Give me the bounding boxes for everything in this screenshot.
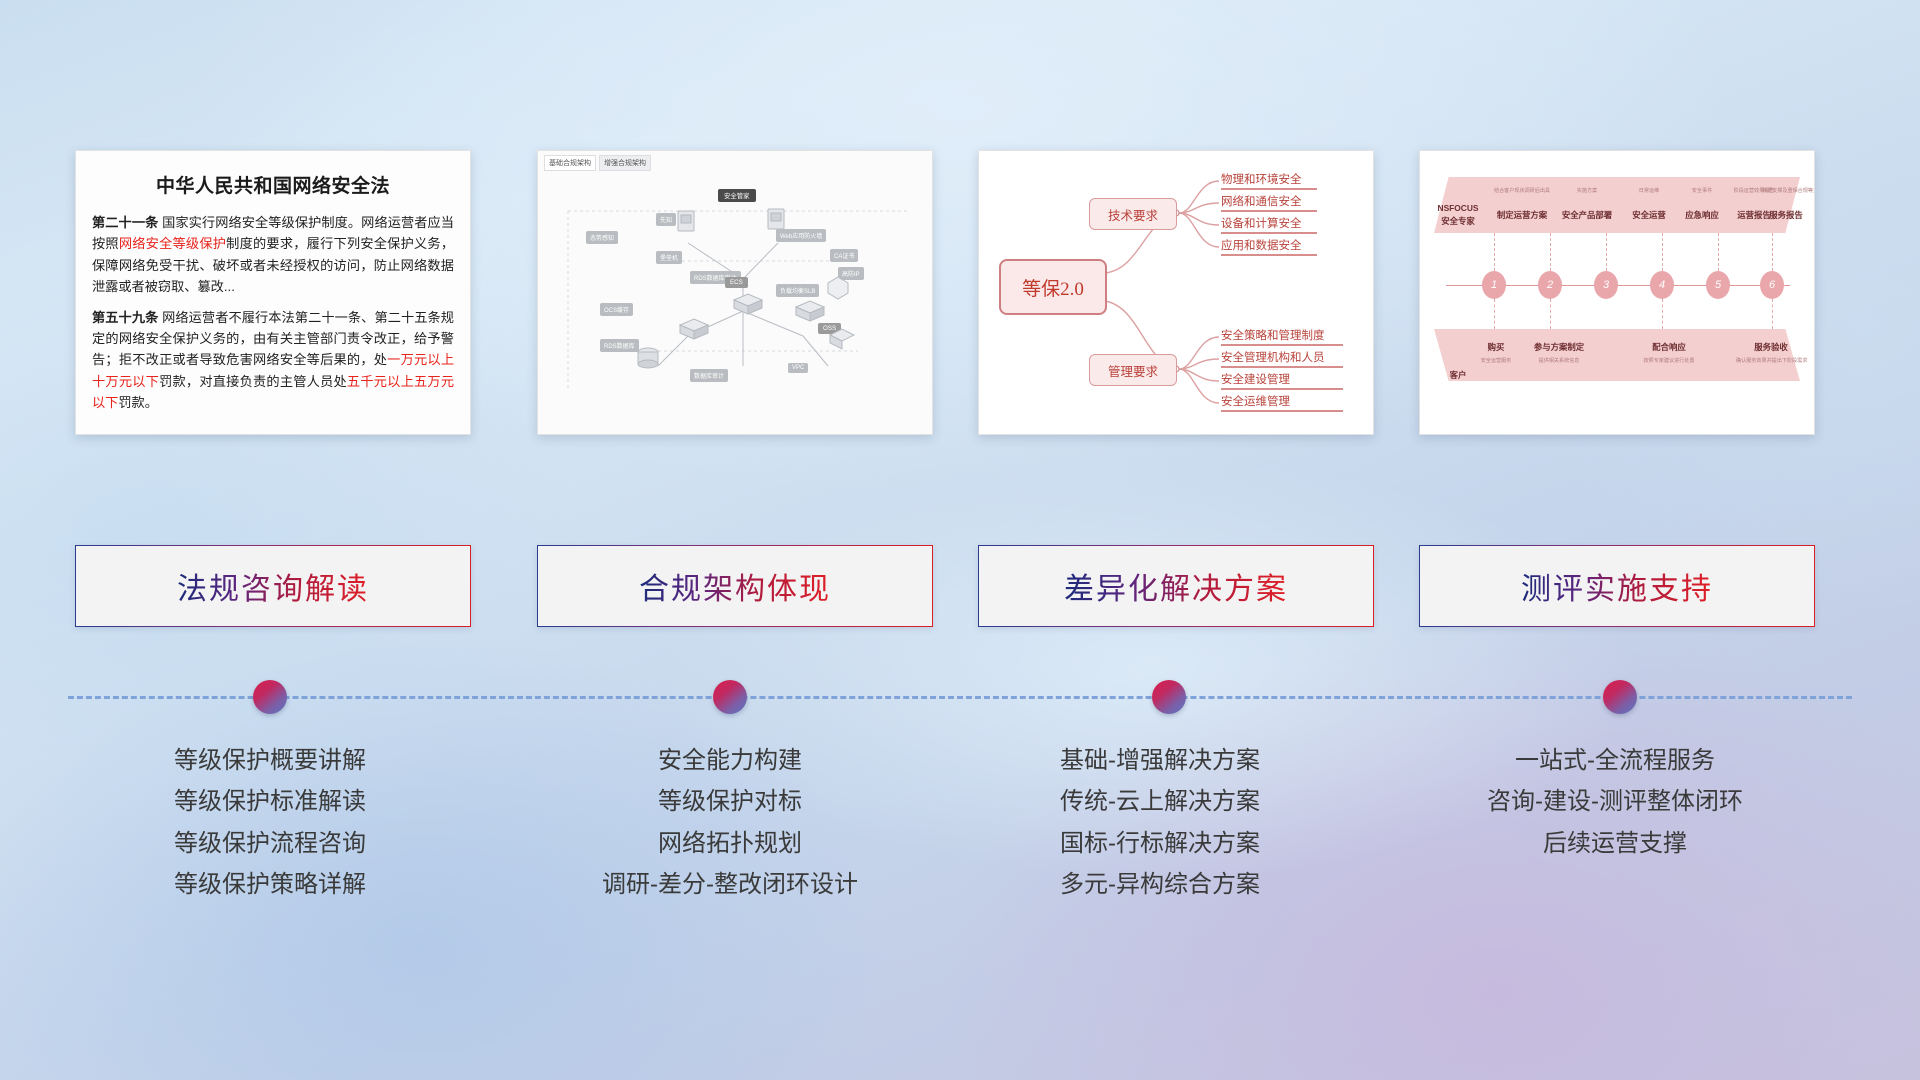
topology-node-db-audit: 数据库审计: [690, 369, 728, 382]
mindmap-leaf-device: 设备和计算安全: [1221, 215, 1302, 231]
list-item: 等级保护标准解读: [55, 781, 485, 822]
mindmap-leaf-underline: [1221, 366, 1343, 368]
list-item: 等级保护概要讲解: [55, 740, 485, 781]
topology-node-waf: Web应用防火墙: [776, 229, 826, 242]
nsfocus-connector: [1606, 233, 1608, 271]
list-item: 多元-异构综合方案: [945, 864, 1375, 905]
mindmap-leaf-operation: 安全运维管理: [1221, 393, 1290, 409]
card-mindmap-dengbao[interactable]: 等保2.0 技术要求 管理要求 物理和环境安全 网络和通信安全 设备和计算安全 …: [978, 150, 1374, 435]
list-item: 调研-差分-整改闭环设计: [515, 864, 945, 905]
list-item: 咨询-建设-测评整体闭环: [1400, 781, 1830, 822]
nsfocus-top-sub-4: 安全事件: [1678, 187, 1726, 194]
nsfocus-connector: [1494, 233, 1496, 271]
section-labels-row: 法规咨询解读 合规架构体现 差异化解决方案 测评实施支持: [0, 545, 1920, 635]
mindmap-leaf-underline: [1221, 254, 1317, 256]
nsfocus-bottom-sub-3: 按照专家建议进行处置: [1636, 357, 1702, 364]
law-title: 中华人民共和国网络安全法: [92, 171, 454, 198]
nsfocus-step-2: 2: [1538, 271, 1562, 299]
mindmap-leaf-underline: [1221, 344, 1343, 346]
topology-node-oss: OSS: [818, 323, 841, 334]
section-label-text-1: 法规咨询解读: [177, 564, 369, 608]
mindmap-leaf-underline: [1221, 410, 1343, 412]
section-items-1: 等级保护概要讲解 等级保护标准解读 等级保护流程咨询 等级保护策略详解: [55, 740, 485, 905]
mindmap-leaf-construction: 安全建设管理: [1221, 371, 1290, 387]
nsfocus-step-6: 6: [1760, 271, 1784, 299]
list-item: 传统-云上解决方案: [945, 781, 1375, 822]
nsfocus-connector: [1772, 299, 1774, 329]
timeline-dot-4[interactable]: [1603, 680, 1637, 714]
nsfocus-connector: [1662, 299, 1664, 329]
section-label-text-4: 测评实施支持: [1521, 564, 1713, 608]
nsfocus-top-main-1: 制定运营方案: [1490, 209, 1554, 221]
nsfocus-bottom-band: [1434, 329, 1800, 381]
timeline-dot-1[interactable]: [253, 680, 287, 714]
article-21-highlight: 网络安全等级保护: [119, 236, 226, 251]
section-items-3: 基础-增强解决方案 传统-云上解决方案 国标-行标解决方案 多元-异构综合方案: [945, 740, 1375, 905]
list-item: 国标-行标解决方案: [945, 823, 1375, 864]
nsfocus-step-4: 4: [1650, 271, 1674, 299]
topology-diagram: 基础合规架构 增强合规架构: [538, 151, 932, 434]
nsfocus-bottom-sub-2: 提供相关系统信息: [1524, 357, 1594, 364]
topology-node-ocs-cache: OCS缓存: [600, 303, 633, 316]
topology-node-rds-db: RDS数据库: [600, 339, 639, 352]
nsfocus-bottom-sub-1: 安全运营服务: [1470, 357, 1522, 364]
card-nsfocus-service-timeline[interactable]: NSFOCUS 安全专家 客户 结合客户现状调研后出具 制定运营方案 实施方案 …: [1419, 150, 1815, 435]
law-article-59: 第五十九条 网络运营者不履行本法第二十一条、第二十五条规定的网络安全保护义务的，…: [92, 307, 454, 414]
mindmap-branch-technical: 技术要求: [1089, 198, 1177, 230]
timeline: [0, 680, 1920, 720]
mindmap-leaf-policy: 安全策略和管理制度: [1221, 327, 1325, 343]
topology-node-bastion-host: 堡垒机: [656, 251, 682, 264]
article-59-label: 第五十九条: [92, 310, 158, 325]
list-item: 一站式-全流程服务: [1400, 740, 1830, 781]
nsfocus-connector: [1550, 233, 1552, 271]
topology-node-slb: 负载均衡SLB: [776, 284, 819, 297]
nsfocus-top-sub-3: 日常运维: [1624, 187, 1674, 194]
nsfocus-connector: [1772, 233, 1774, 271]
section-items-2: 安全能力构建 等级保护对标 网络拓扑规划 调研-差分-整改闭环设计: [515, 740, 945, 905]
nsfocus-step-5: 5: [1706, 271, 1730, 299]
nsfocus-step-3: 3: [1594, 271, 1618, 299]
nsfocus-top-main-3: 安全运营: [1622, 209, 1676, 221]
mindmap-diagram: 等保2.0 技术要求 管理要求 物理和环境安全 网络和通信安全 设备和计算安全 …: [979, 151, 1373, 434]
topology-node-security-steward: 安全管家: [718, 189, 756, 202]
timeline-dot-2[interactable]: [713, 680, 747, 714]
mindmap-root-node: 等保2.0: [999, 259, 1107, 315]
article-59-text-b: 罚款，对直接负责的主管人员处: [159, 374, 347, 389]
timeline-dot-3[interactable]: [1152, 680, 1186, 714]
article-59-text-c: 罚款。: [118, 395, 158, 410]
mindmap-leaf-underline: [1221, 388, 1343, 390]
list-item: 网络拓扑规划: [515, 823, 945, 864]
nsfocus-bottom-sub-4: 确认服务效果并提出下阶段需求: [1736, 357, 1806, 364]
nsfocus-role-customer: 客户: [1432, 369, 1484, 381]
nsfocus-bottom-main-2: 参与方案制定: [1524, 341, 1594, 353]
section-items-row: 等级保护概要讲解 等级保护标准解读 等级保护流程咨询 等级保护策略详解 安全能力…: [0, 740, 1920, 970]
section-label-text-3: 差异化解决方案: [1064, 564, 1288, 608]
list-item: 后续运营支撑: [1400, 823, 1830, 864]
list-item: 等级保护对标: [515, 781, 945, 822]
nsfocus-bottom-main-1: 购买: [1476, 341, 1516, 353]
topology-node-ca-cert: CA证书: [830, 249, 858, 262]
nsfocus-top-main-2: 安全产品部署: [1554, 209, 1620, 221]
nsfocus-diagram: NSFOCUS 安全专家 客户 结合客户现状调研后出具 制定运营方案 实施方案 …: [1420, 151, 1814, 434]
reference-cards-row: 中华人民共和国网络安全法 第二十一条 国家实行网络安全等级保护制度。网络运营者应…: [0, 150, 1920, 440]
infographic-stage: 中华人民共和国网络安全法 第二十一条 国家实行网络安全等级保护制度。网络运营者应…: [0, 0, 1920, 1080]
nsfocus-top-sub-2: 实施方案: [1558, 187, 1616, 194]
section-label-box-1[interactable]: 法规咨询解读: [75, 545, 471, 627]
nsfocus-bottom-main-3: 配合响应: [1644, 341, 1694, 353]
card-compliance-topology[interactable]: 基础合规架构 增强合规架构: [537, 150, 933, 435]
list-item: 等级保护流程咨询: [55, 823, 485, 864]
nsfocus-top-main-4: 应急响应: [1676, 209, 1728, 221]
nsfocus-top-sub-1: 结合客户现状调研后出具: [1490, 187, 1554, 194]
section-label-text-2: 合规架构体现: [639, 564, 831, 608]
card-cybersecurity-law[interactable]: 中华人民共和国网络安全法 第二十一条 国家实行网络安全等级保护制度。网络运营者应…: [75, 150, 471, 435]
list-item: 安全能力构建: [515, 740, 945, 781]
mindmap-leaf-physical: 物理和环境安全: [1221, 171, 1302, 187]
nsfocus-connector: [1718, 233, 1720, 271]
mindmap-leaf-underline: [1221, 210, 1317, 212]
nsfocus-top-sub-6: 数据支撑及重保合规等支撑服务: [1762, 187, 1810, 194]
nsfocus-connector: [1662, 233, 1664, 271]
topology-node-situational-awareness: 态势感知: [586, 231, 618, 244]
nsfocus-bottom-main-4: 服务验收: [1746, 341, 1796, 353]
nsfocus-top-main-6: 服务报告: [1762, 209, 1810, 221]
list-item: 基础-增强解决方案: [945, 740, 1375, 781]
topology-node-ecs: ECS: [725, 277, 748, 288]
list-item: 等级保护策略详解: [55, 864, 485, 905]
mindmap-branch-management: 管理要求: [1089, 354, 1177, 386]
nsfocus-brand: NSFOCUS: [1432, 203, 1484, 213]
mindmap-leaf-underline: [1221, 232, 1317, 234]
topology-node-xianzhi: 先知: [656, 213, 676, 226]
topology-node-vpc: VPC: [788, 363, 808, 373]
section-label-box-2[interactable]: 合规架构体现: [537, 545, 933, 627]
nsfocus-role-expert: 安全专家: [1432, 215, 1484, 227]
section-label-box-3[interactable]: 差异化解决方案: [978, 545, 1374, 627]
mindmap-leaf-application: 应用和数据安全: [1221, 237, 1302, 253]
nsfocus-step-1: 1: [1482, 271, 1506, 299]
mindmap-leaf-underline: [1221, 188, 1317, 190]
timeline-rail: [68, 696, 1852, 699]
mindmap-leaf-org: 安全管理机构和人员: [1221, 349, 1325, 365]
nsfocus-connector: [1494, 299, 1496, 329]
article-21-label: 第二十一条: [92, 215, 158, 230]
section-label-box-4[interactable]: 测评实施支持: [1419, 545, 1815, 627]
law-article-21: 第二十一条 国家实行网络安全等级保护制度。网络运营者应当按照网络安全等级保护制度…: [92, 212, 454, 298]
topology-node-anti-ddos-ip: 高防IP: [838, 267, 864, 280]
law-text-block: 中华人民共和国网络安全法 第二十一条 国家实行网络安全等级保护制度。网络运营者应…: [76, 151, 470, 434]
nsfocus-top-band: [1434, 177, 1800, 233]
section-items-4: 一站式-全流程服务 咨询-建设-测评整体闭环 后续运营支撑: [1400, 740, 1830, 864]
nsfocus-connector: [1550, 299, 1552, 329]
mindmap-leaf-network: 网络和通信安全: [1221, 193, 1302, 209]
